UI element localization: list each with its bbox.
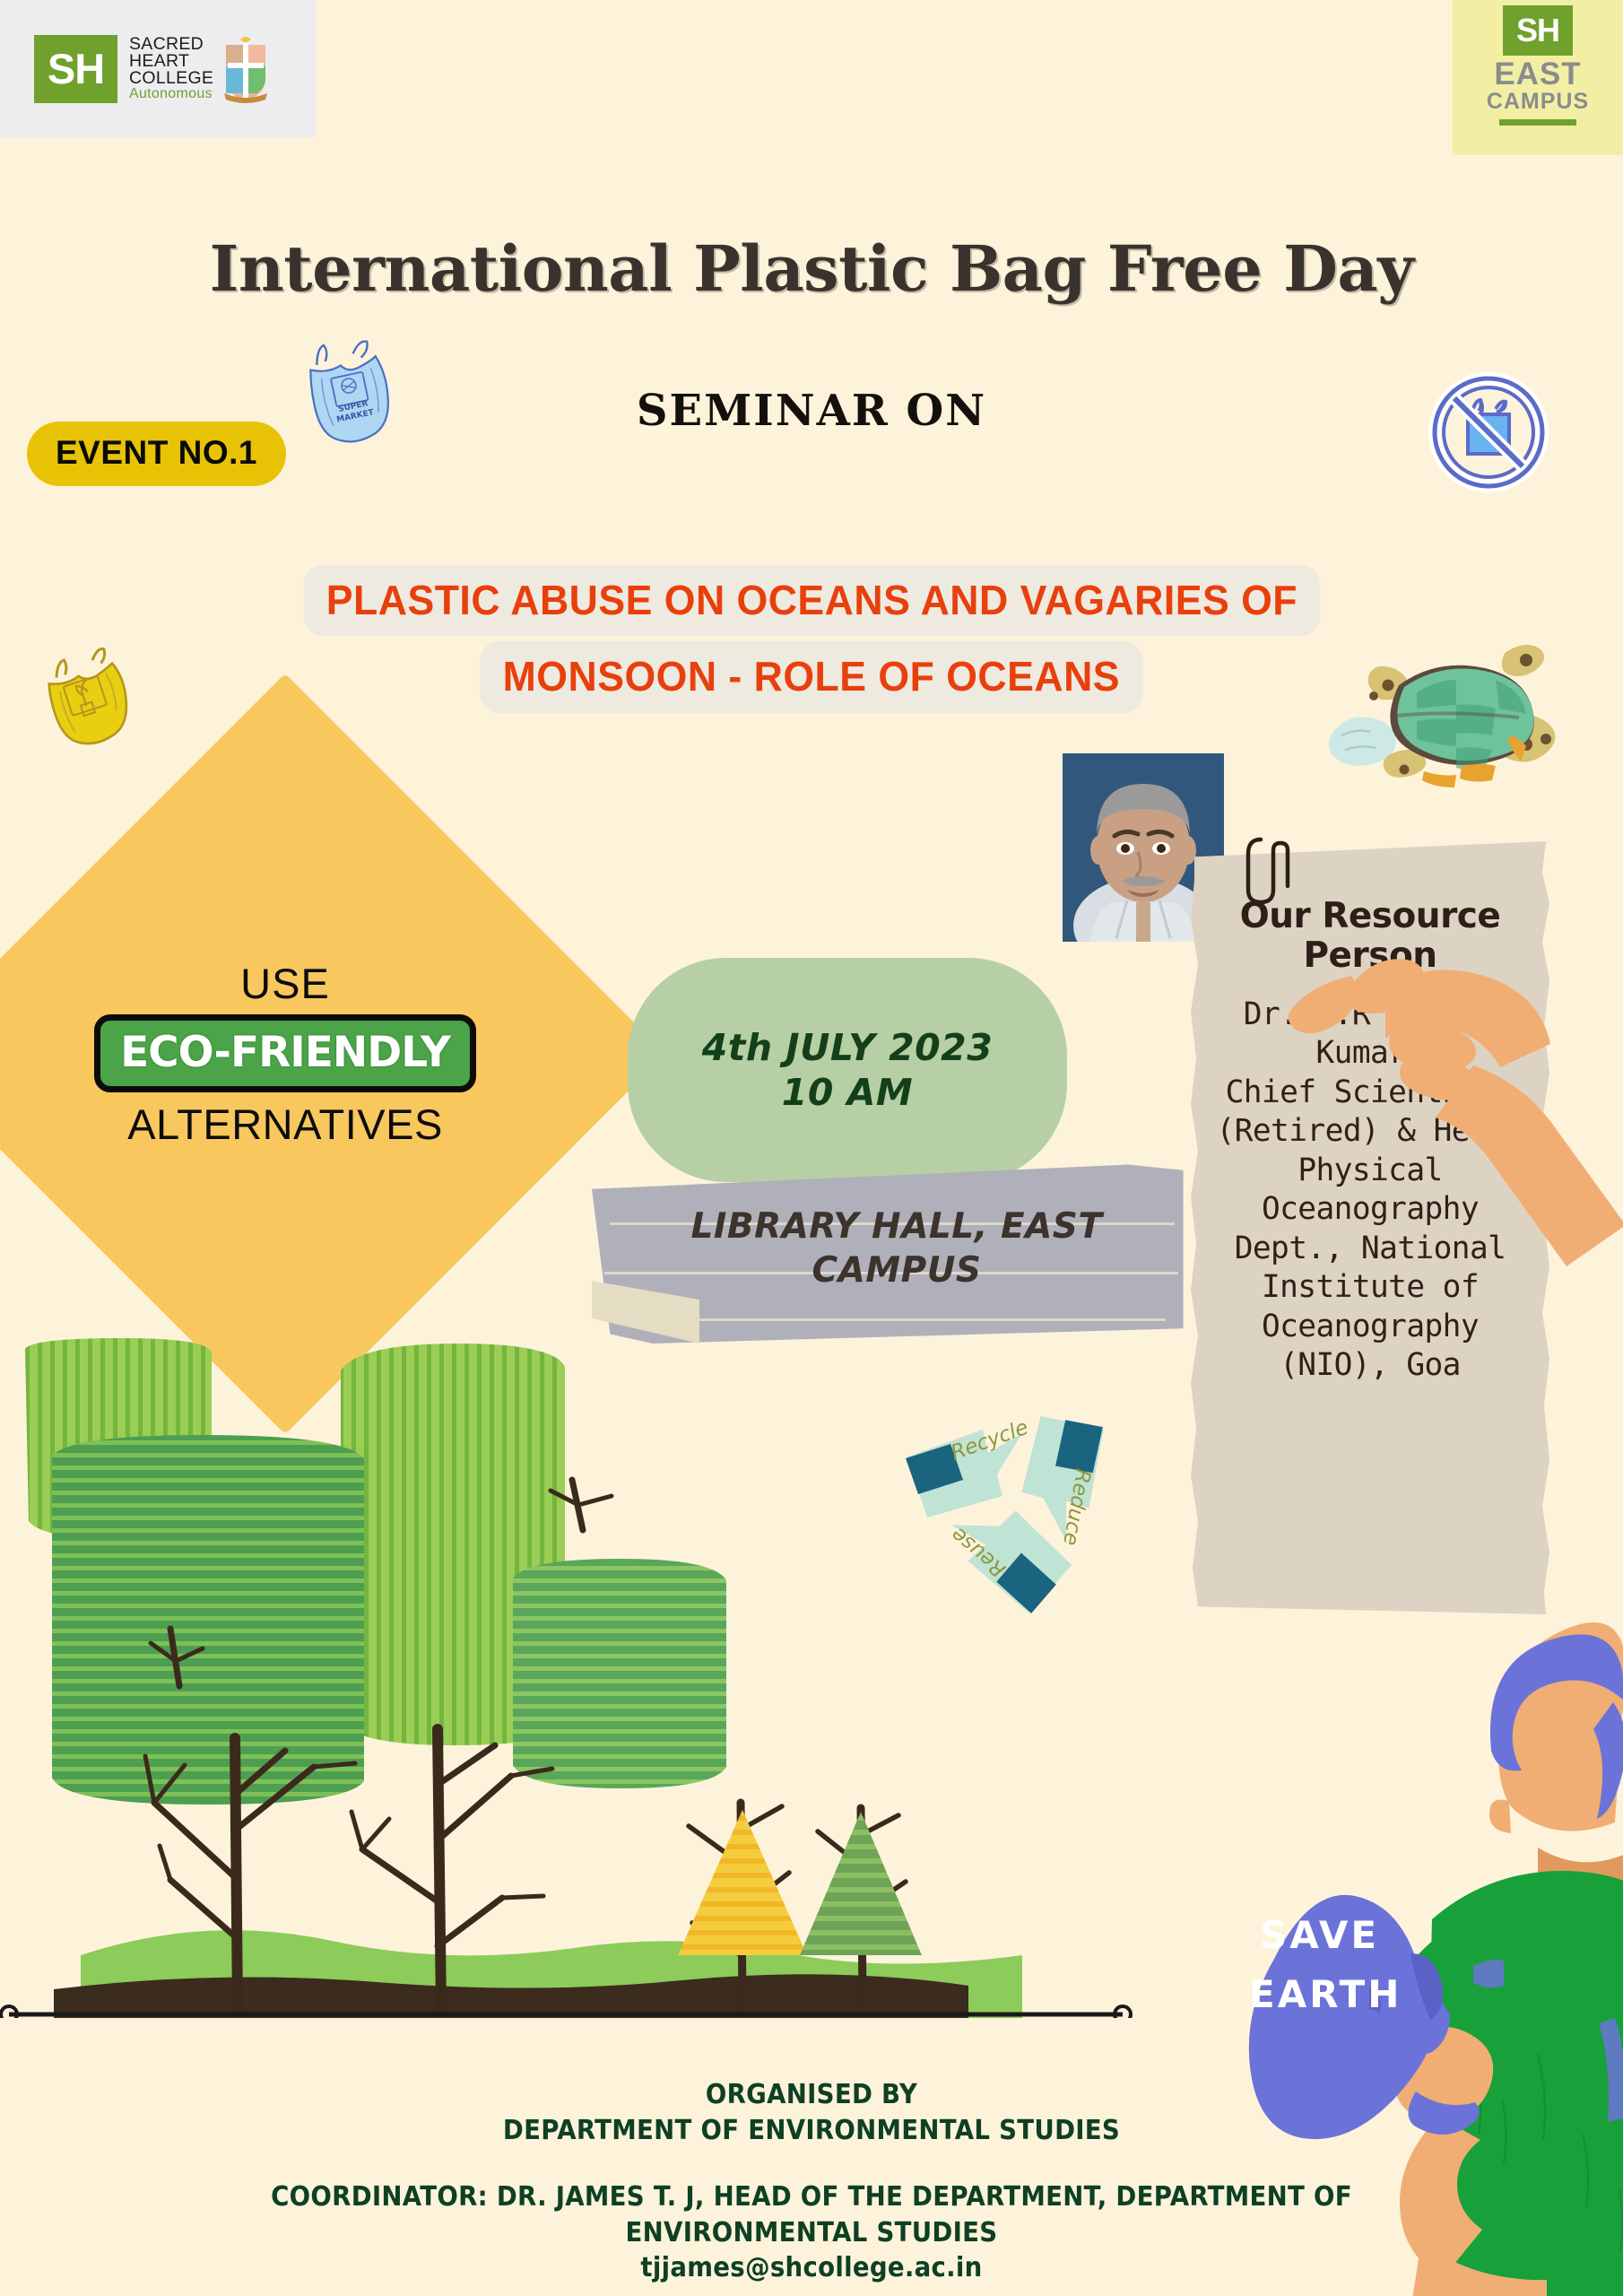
seminar-topic-line-1: PLASTIC ABUSE ON OCEANS AND VAGARIES OF xyxy=(303,565,1320,636)
college-name-line-3: COLLEGE xyxy=(129,70,213,87)
plastic-bag-icon xyxy=(31,644,143,747)
megaphone-line-1: SAVE xyxy=(1260,1913,1379,1957)
megaphone-line-2: EARTH xyxy=(1249,1972,1402,2016)
resource-heading-line-1: Our Resource xyxy=(1194,897,1546,936)
organiser-block: ORGANISED BY DEPARTMENT OF ENVIRONMENTAL… xyxy=(65,2077,1558,2148)
college-name-block: SACRED HEART COLLEGE Autonomous xyxy=(129,36,213,101)
eco-friendly-message: USE ECO-FRIENDLY ALTERNATIVES xyxy=(16,785,554,1323)
eco-line-use: USE xyxy=(240,959,330,1008)
page-title: International Plastic Bag Free Day xyxy=(0,231,1623,306)
coordinator-block: COORDINATOR: DR. JAMES T. J, HEAD OF THE… xyxy=(65,2179,1558,2286)
venue-line-1: LIBRARY HALL, EAST xyxy=(690,1205,1102,1249)
coordinator-line-2: ENVIRONMENTAL STUDIES xyxy=(65,2215,1558,2251)
plastic-bag-icon: SUPER MARKET xyxy=(296,332,404,448)
sh-east-campus-logo: SH EAST CAMPUS xyxy=(1453,0,1623,155)
college-autonomous-label: Autonomous xyxy=(129,87,213,101)
event-number-badge: EVENT NO.1 xyxy=(27,422,286,486)
event-datetime: 4th JULY 2023 10 AM xyxy=(702,1025,993,1115)
paperclip-icon xyxy=(1245,834,1297,906)
venue-text: LIBRARY HALL, EAST CAMPUS xyxy=(592,1155,1202,1344)
campus-label: CAMPUS xyxy=(1487,90,1589,115)
organiser-department: DEPARTMENT OF ENVIRONMENTAL STUDIES xyxy=(65,2113,1558,2149)
coordinator-line-1: COORDINATOR: DR. JAMES T. J, HEAD OF THE… xyxy=(65,2179,1558,2215)
sh-east-monogram: SH xyxy=(1503,5,1573,56)
eco-friendly-chip: ECO-FRIENDLY xyxy=(94,1014,476,1092)
event-date-pill: 4th JULY 2023 10 AM xyxy=(628,958,1067,1182)
seminar-topic-line-2: MONSOON - ROLE OF OCEANS xyxy=(481,641,1143,712)
poster-canvas: SH SACRED HEART COLLEGE Autonomous SH EA… xyxy=(0,0,1623,2296)
coordinator-email: tjjames@shcollege.ac.in xyxy=(65,2250,1558,2286)
sacred-heart-college-logo: SH SACRED HEART COLLEGE Autonomous xyxy=(0,0,316,137)
no-plastic-bag-icon xyxy=(1426,370,1551,495)
sea-turtle-icon xyxy=(1327,630,1569,796)
logo-underline-bar xyxy=(1499,119,1576,126)
organised-by-label: ORGANISED BY xyxy=(65,2077,1558,2113)
sh-monogram: SH xyxy=(34,35,117,103)
recycle-symbol-icon: Recycle Reduce Reuse xyxy=(883,1381,1143,1623)
event-date: 4th JULY 2023 xyxy=(702,1025,993,1070)
event-time: 10 AM xyxy=(702,1070,993,1115)
venue-line-2: CAMPUS xyxy=(690,1249,1102,1293)
venue-banner: LIBRARY HALL, EAST CAMPUS xyxy=(592,1155,1202,1344)
eco-line-alternatives: ALTERNATIVES xyxy=(127,1100,443,1149)
east-label: EAST xyxy=(1494,58,1581,90)
college-crest-icon xyxy=(222,34,269,104)
